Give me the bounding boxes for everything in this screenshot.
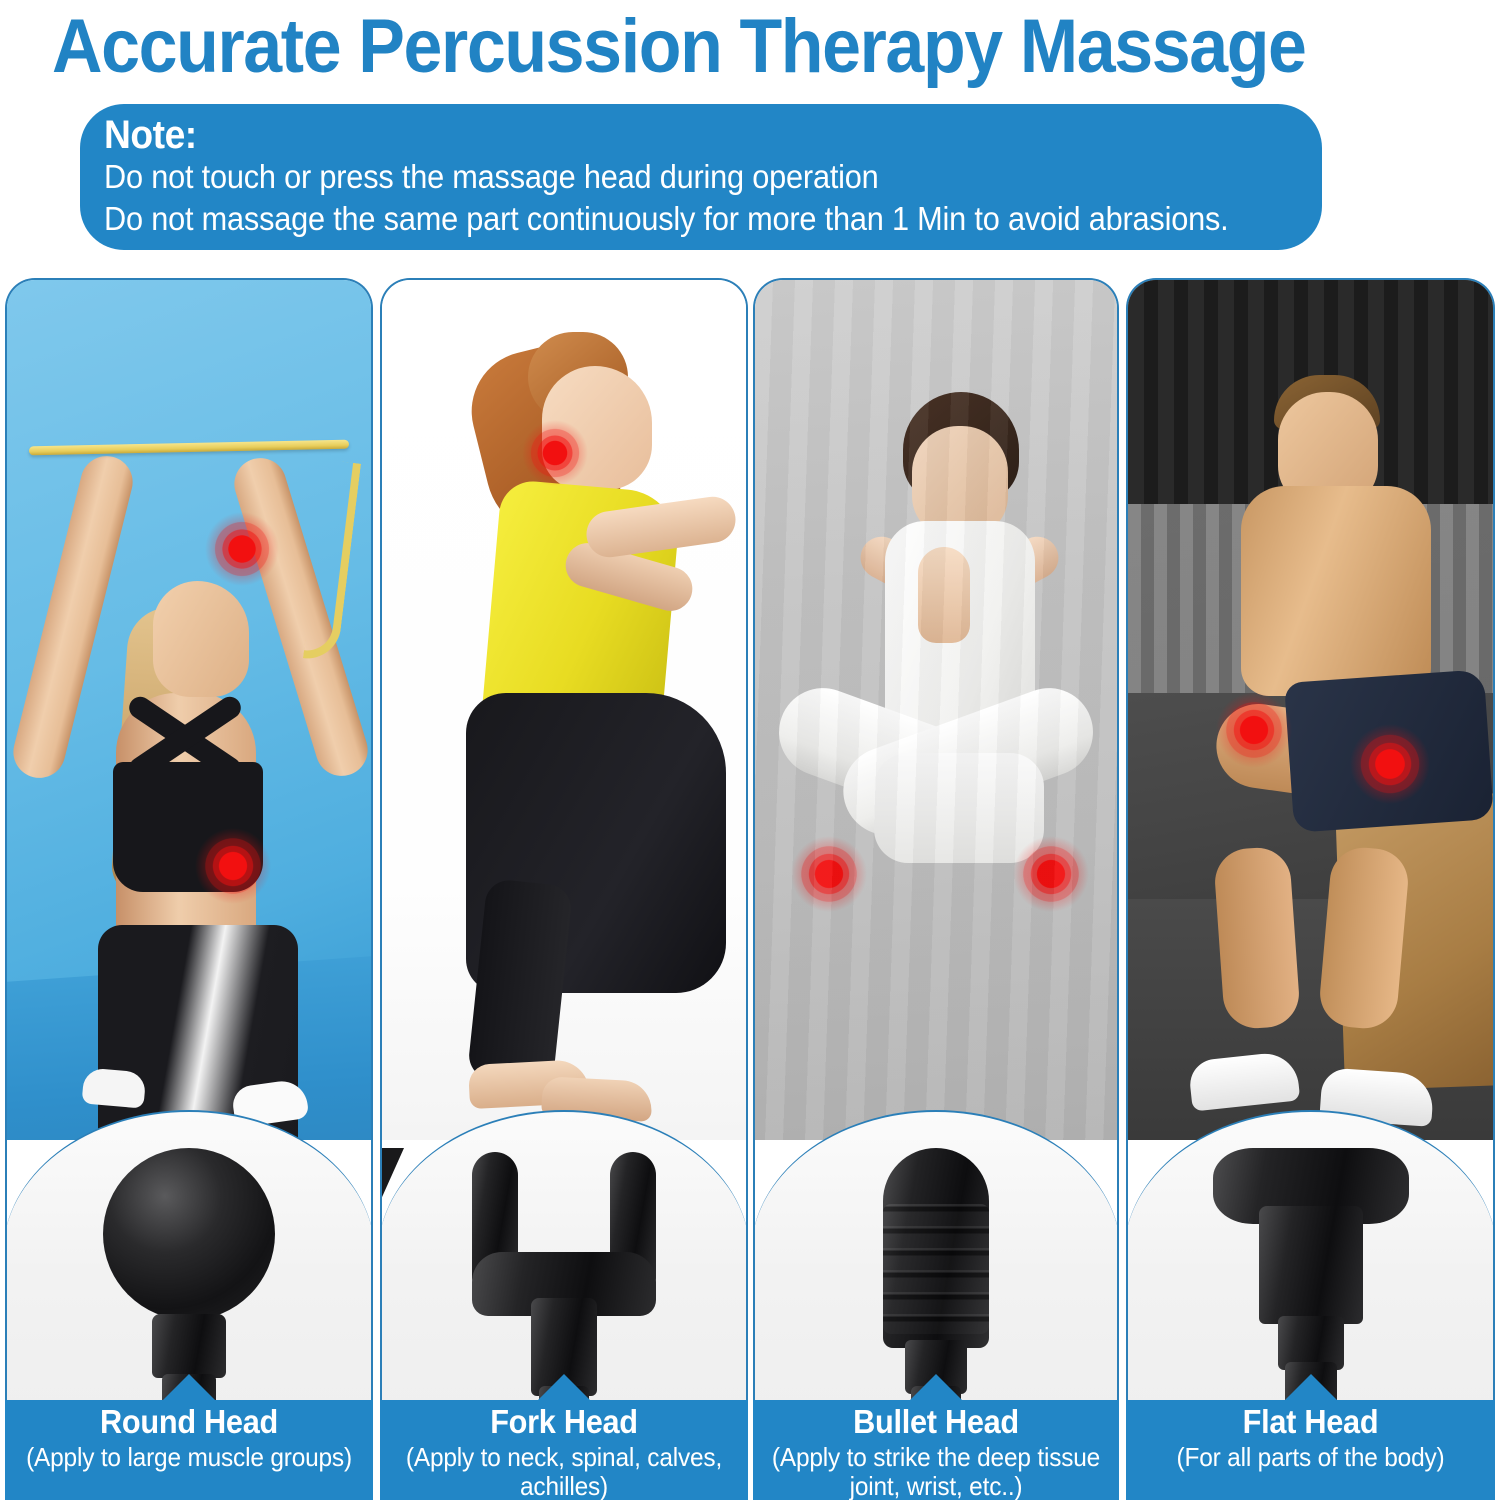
attachment-label-flat-head: Flat Head (For all parts of the body)	[1126, 1400, 1495, 1500]
pointer-triangle-icon	[163, 1374, 215, 1400]
note-label: Note:	[104, 114, 1213, 156]
attachment-label-bullet-head: Bullet Head (Apply to strike the deep ti…	[753, 1400, 1119, 1500]
usage-photo-bullet-head	[755, 280, 1117, 1140]
attachment-label-fork-head: Fork Head (Apply to neck, spinal, calves…	[380, 1400, 748, 1500]
infographic-page: Accurate Percussion Therapy Massage Note…	[0, 0, 1500, 1500]
attachment-use: (Apply to strike the deep tissue joint, …	[764, 1440, 1108, 1500]
pain-point-marker	[791, 836, 867, 912]
attachment-use: (Apply to large muscle groups)	[16, 1440, 362, 1472]
attachment-card-fork-head[interactable]	[380, 278, 748, 1500]
pointer-triangle-icon	[910, 1374, 962, 1400]
pain-point-marker	[1013, 836, 1089, 912]
attachment-name: Bullet Head	[766, 1404, 1106, 1440]
pointer-triangle-icon	[1285, 1374, 1337, 1400]
attachment-card-round-head[interactable]	[5, 278, 373, 1500]
attachment-use: (Apply to neck, spinal, calves, achilles…	[391, 1440, 737, 1500]
note-line-2: Do not massage the same part continuousl…	[104, 198, 1213, 240]
attachment-card-grid	[0, 278, 1500, 1500]
attachment-card-bullet-head[interactable]	[753, 278, 1119, 1500]
note-line-1: Do not touch or press the massage head d…	[104, 156, 1213, 198]
pointer-triangle-icon	[538, 1374, 590, 1400]
attachment-label-round-head: Round Head (Apply to large muscle groups…	[5, 1400, 373, 1500]
attachment-card-flat-head[interactable]	[1126, 278, 1495, 1500]
page-title: Accurate Percussion Therapy Massage	[52, 8, 1306, 86]
note-box: Note: Do not touch or press the massage …	[80, 104, 1322, 250]
usage-photo-fork-head	[382, 280, 746, 1140]
attachment-name: Fork Head	[393, 1404, 735, 1440]
attachment-name: Flat Head	[1139, 1404, 1482, 1440]
usage-photo-round-head	[7, 280, 371, 1140]
usage-photo-flat-head	[1128, 280, 1493, 1140]
attachment-use: (For all parts of the body)	[1137, 1440, 1484, 1472]
attachment-name: Round Head	[18, 1404, 360, 1440]
